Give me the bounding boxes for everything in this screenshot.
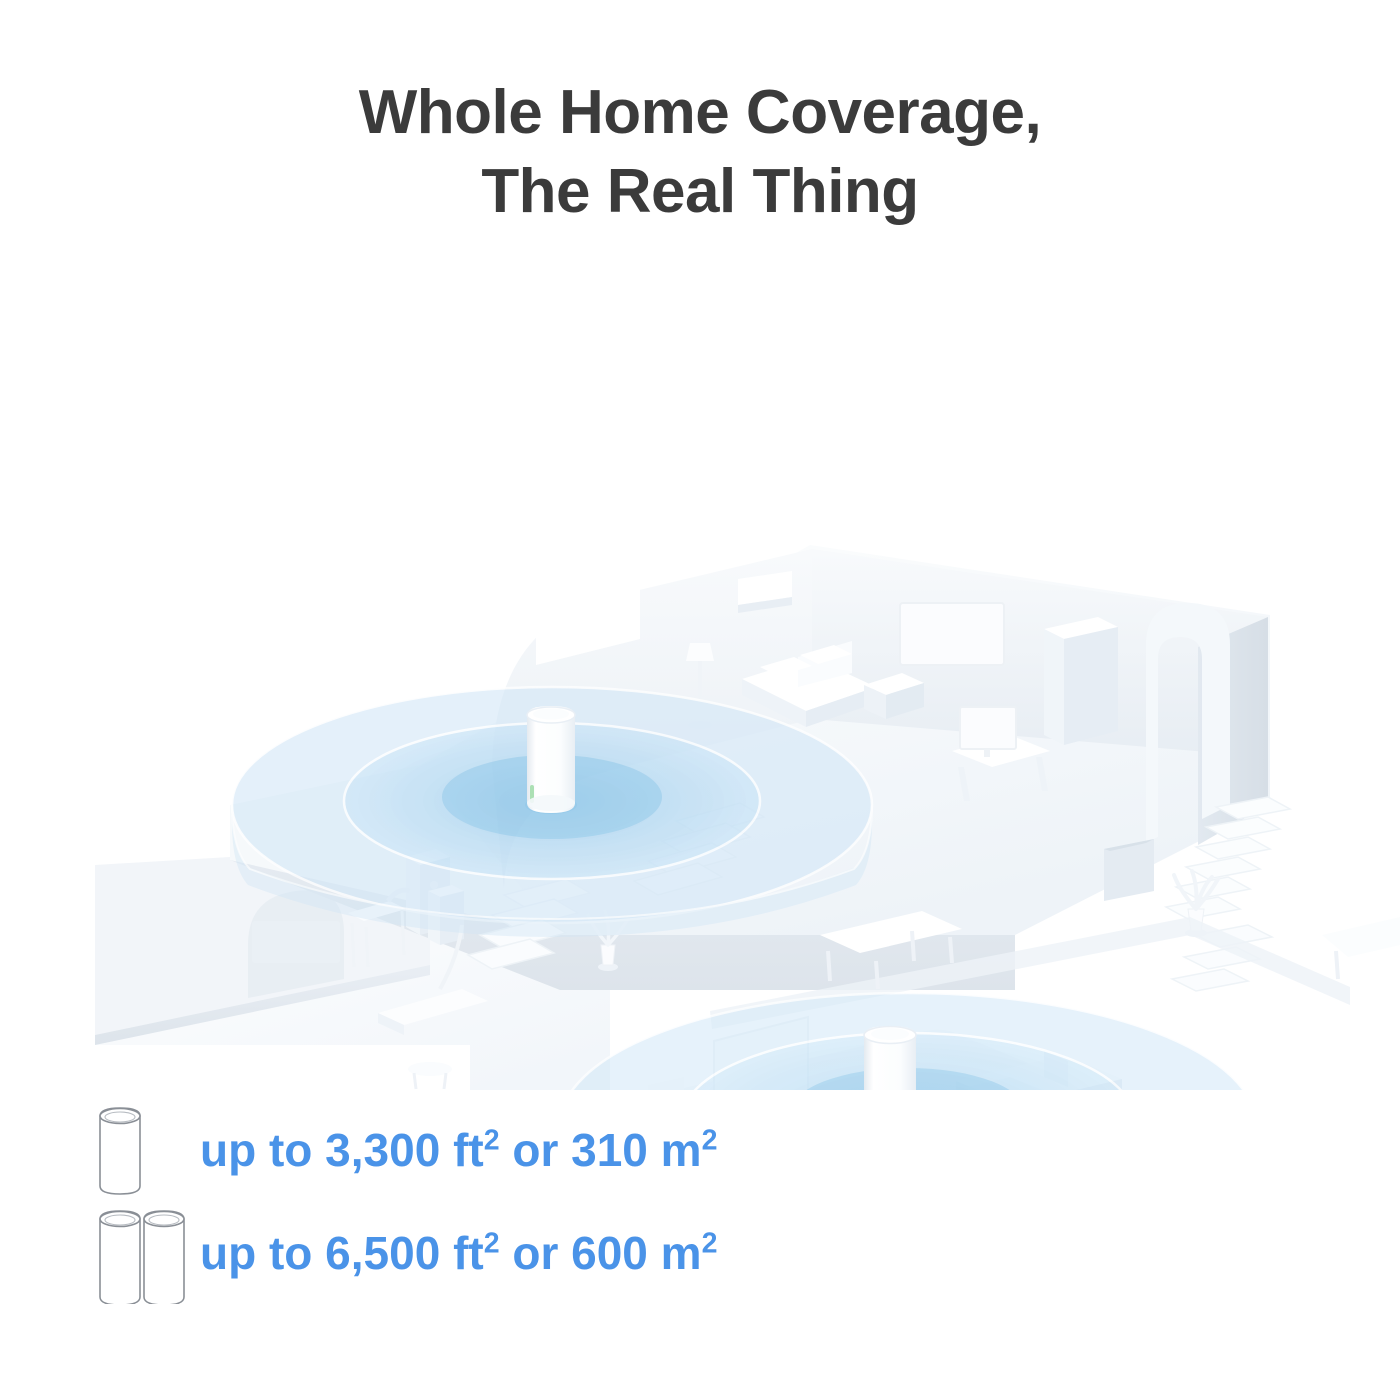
coverage-infographic: Whole Home Coverage, The Real Thing (0, 0, 1400, 1400)
coverage-legend: up to 3,300 ft2 or 310 m2 up to 6,500 ft… (78, 1098, 1078, 1304)
page-title-line-1: Whole Home Coverage, (359, 78, 1041, 147)
legend-single-prefix: up to 3,300 ft (200, 1124, 484, 1176)
legend-label-double-unit: up to 6,500 ft2 or 600 m2 (200, 1230, 717, 1276)
legend-row-single-unit: up to 3,300 ft2 or 310 m2 (78, 1098, 1078, 1201)
deco-unit-upstairs (525, 706, 577, 814)
right-edge-table (1322, 917, 1400, 979)
legend-label-single-unit: up to 3,300 ft2 or 310 m2 (200, 1127, 717, 1173)
legend-double-sup-2: 2 (702, 1227, 718, 1259)
house-illustration (0, 245, 1400, 1090)
two-deco-units-icon (78, 1201, 200, 1304)
legend-double-prefix: up to 6,500 ft (200, 1227, 484, 1279)
legend-single-sup-2: 2 (702, 1124, 718, 1156)
legend-double-sup-1: 2 (484, 1227, 500, 1259)
page-title-line-2: The Real Thing (0, 153, 1400, 232)
deco-unit-downstairs (862, 1026, 918, 1090)
legend-row-double-unit: up to 6,500 ft2 or 600 m2 (78, 1201, 1078, 1304)
legend-single-sup-1: 2 (484, 1124, 500, 1156)
legend-double-mid: or 600 m (500, 1227, 702, 1279)
one-deco-unit-icon (78, 1098, 200, 1201)
legend-single-mid: or 310 m (500, 1124, 702, 1176)
page-title: Whole Home Coverage, The Real Thing (0, 74, 1400, 231)
